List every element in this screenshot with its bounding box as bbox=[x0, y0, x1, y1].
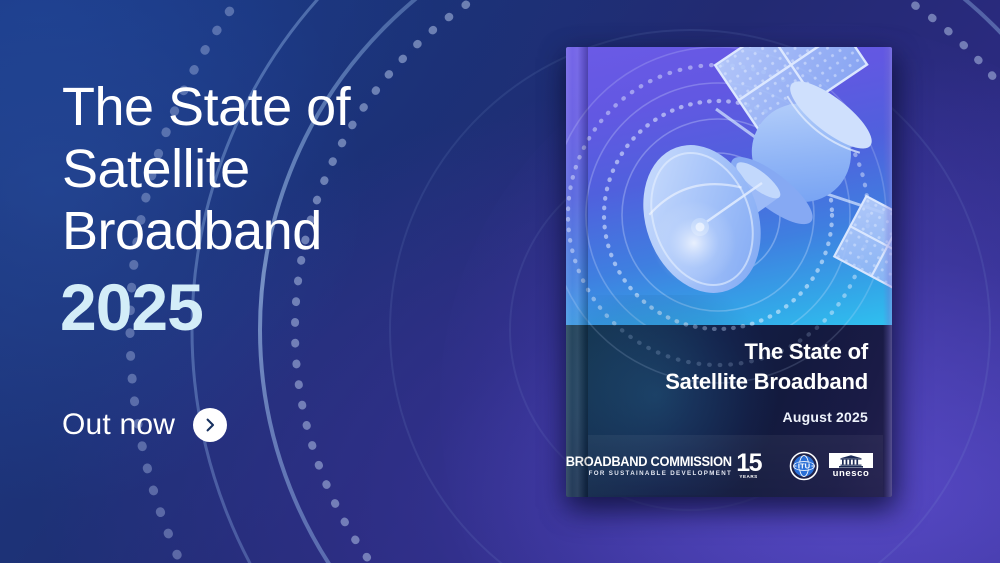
anniversary-label: YEARS bbox=[739, 474, 757, 480]
headline-line-2: Satellite bbox=[62, 138, 532, 200]
cover-logo-bar: BROADBAND COMMISSION FOR SUSTAINABLE DEV… bbox=[588, 435, 883, 497]
satellite-illustration bbox=[566, 47, 892, 325]
page-title: The State of Satellite Broadband bbox=[62, 76, 532, 262]
cta-label: Out now bbox=[62, 408, 175, 442]
cover-date: August 2025 bbox=[783, 409, 868, 425]
anniversary-number: 15 bbox=[736, 452, 761, 474]
out-now-cta[interactable]: Out now bbox=[62, 408, 227, 442]
headline-line-1: The State of bbox=[62, 76, 532, 138]
unesco-temple-icon bbox=[829, 453, 873, 468]
cover-title-line-2: Satellite Broadband bbox=[590, 367, 868, 397]
broadband-commission-logo: BROADBAND COMMISSION FOR SUSTAINABLE DEV… bbox=[566, 452, 761, 480]
cover-title: The State of Satellite Broadband bbox=[590, 337, 868, 397]
report-cover[interactable]: The State of Satellite Broadband August … bbox=[566, 47, 892, 497]
chevron-right-icon[interactable] bbox=[193, 408, 227, 442]
bbc-logo-sub: FOR SUSTAINABLE DEVELOPMENT bbox=[589, 469, 733, 478]
unesco-logo: unesco bbox=[829, 453, 873, 479]
unesco-wordmark: unesco bbox=[833, 469, 870, 479]
bbc-logo-main: BROADBAND COMMISSION bbox=[566, 455, 732, 469]
svg-text:ITU: ITU bbox=[798, 462, 811, 471]
year-label: 2025 bbox=[60, 272, 203, 342]
cover-title-line-1: The State of bbox=[590, 337, 868, 367]
anniversary-mark: 15 YEARS bbox=[736, 452, 761, 480]
headline-line-3: Broadband bbox=[62, 200, 532, 262]
promo-banner: The State of Satellite Broadband 2025 Ou… bbox=[0, 0, 1000, 563]
itu-globe-icon: ITU bbox=[789, 451, 819, 481]
